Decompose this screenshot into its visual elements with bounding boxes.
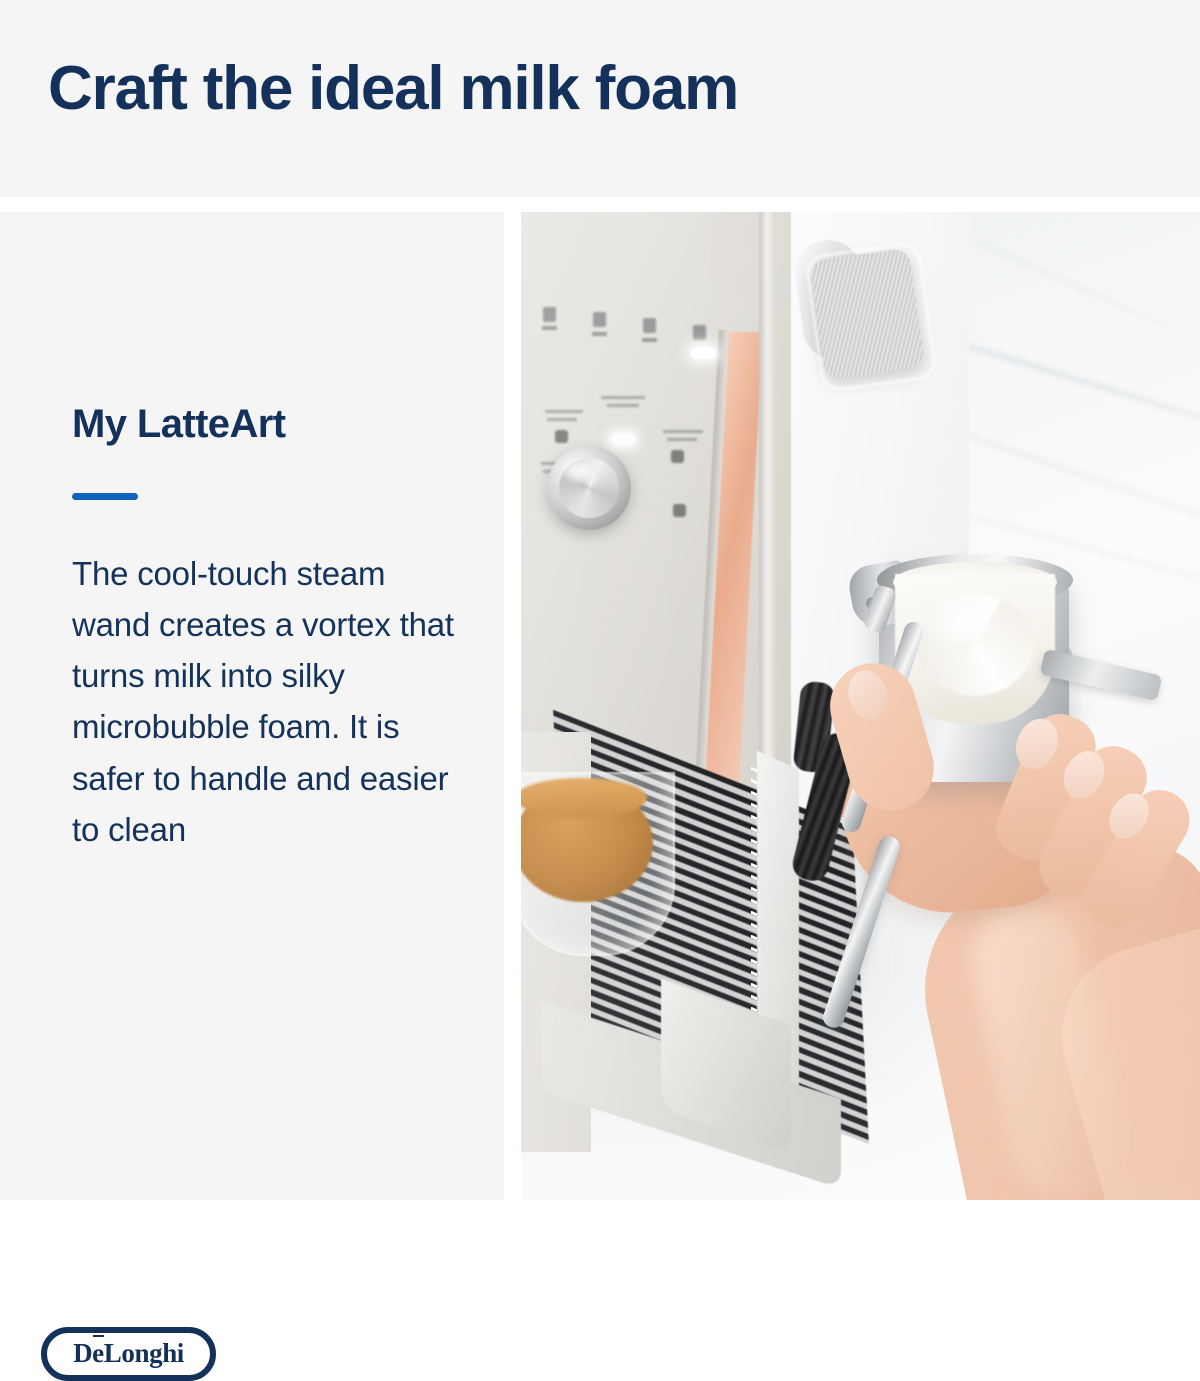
page-title: Craft the ideal milk foam: [48, 56, 738, 122]
delonghi-logo-text: DeLonghi: [73, 1340, 184, 1367]
photo-light-overlay: [521, 212, 1200, 1200]
delonghi-logo: DeLonghi: [41, 1327, 216, 1381]
feature-heading: My LatteArt: [72, 402, 285, 447]
logo-word-longhi: Longhi: [104, 1338, 184, 1368]
accent-rule-divider: [72, 493, 138, 500]
left-content-panel: My LatteArt The cool-touch steam wand cr…: [0, 212, 504, 1200]
feature-description: The cool-touch steam wand creates a vort…: [72, 548, 472, 855]
logo-letter-e-macron: e: [92, 1338, 104, 1368]
promo-card: Craft the ideal milk foam My LatteArt Th…: [0, 0, 1200, 1200]
header-band: Craft the ideal milk foam: [0, 0, 1200, 197]
logo-letter-d: D: [73, 1338, 92, 1368]
product-photo: [521, 212, 1200, 1200]
